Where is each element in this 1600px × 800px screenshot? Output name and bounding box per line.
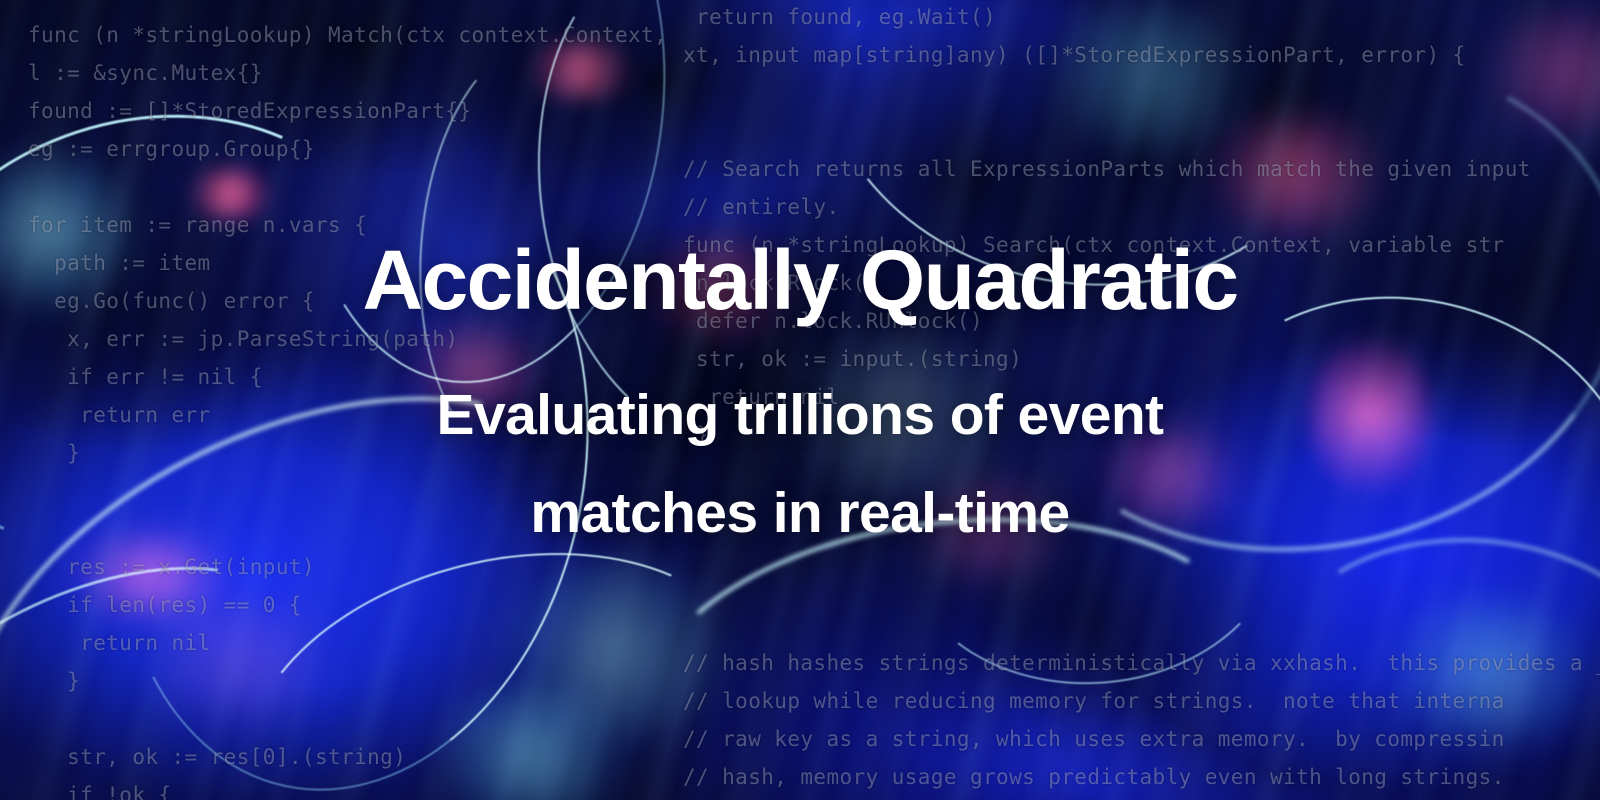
code-line: l := &sync.Mutex{} [28,54,667,92]
code-line: return found, eg.Wait() [683,0,1600,36]
code-line: func (n *stringLookup) Match(ctx context… [28,16,667,54]
code-line: // raw key as a string, which uses extra… [683,720,1600,758]
code-line [683,74,1600,112]
subtitle-line-2: matches in real-time [437,464,1164,562]
code-line: if !ok { [28,776,667,800]
code-line [683,112,1600,150]
code-line: // hash, memory usage grows predictably … [683,758,1600,796]
code-line: // hash hashes strings deterministically… [683,644,1600,682]
hero-banner: func (n *stringLookup) Match(ctx context… [0,0,1600,800]
code-line: func (n *stringLookup) hash(input string… [683,796,1600,800]
code-line [28,700,667,738]
code-line: return nil [28,624,667,662]
code-line [683,606,1600,644]
code-line [28,168,667,206]
hero-text-block: Accidentally Quadratic Evaluating trilli… [0,0,1600,800]
code-line: str, ok := res[0].(string) [28,738,667,776]
code-line: eg := errgroup.Group{} [28,130,667,168]
code-line: } [28,662,667,700]
code-line [683,568,1600,606]
subtitle-line-1: Evaluating trillions of event [437,366,1164,464]
code-line: // entirely. [683,188,1600,226]
code-line: xt, input map[string]any) ([]*StoredExpr… [683,36,1600,74]
page-subtitle: Evaluating trillions of event matches in… [437,366,1164,562]
code-line: // Search returns all ExpressionParts wh… [683,150,1600,188]
code-line: found := []*StoredExpressionPart{} [28,92,667,130]
page-title: Accidentally Quadratic [362,238,1237,322]
code-line: // lookup while reducing memory for stri… [683,682,1600,720]
code-line: if len(res) == 0 { [28,586,667,624]
